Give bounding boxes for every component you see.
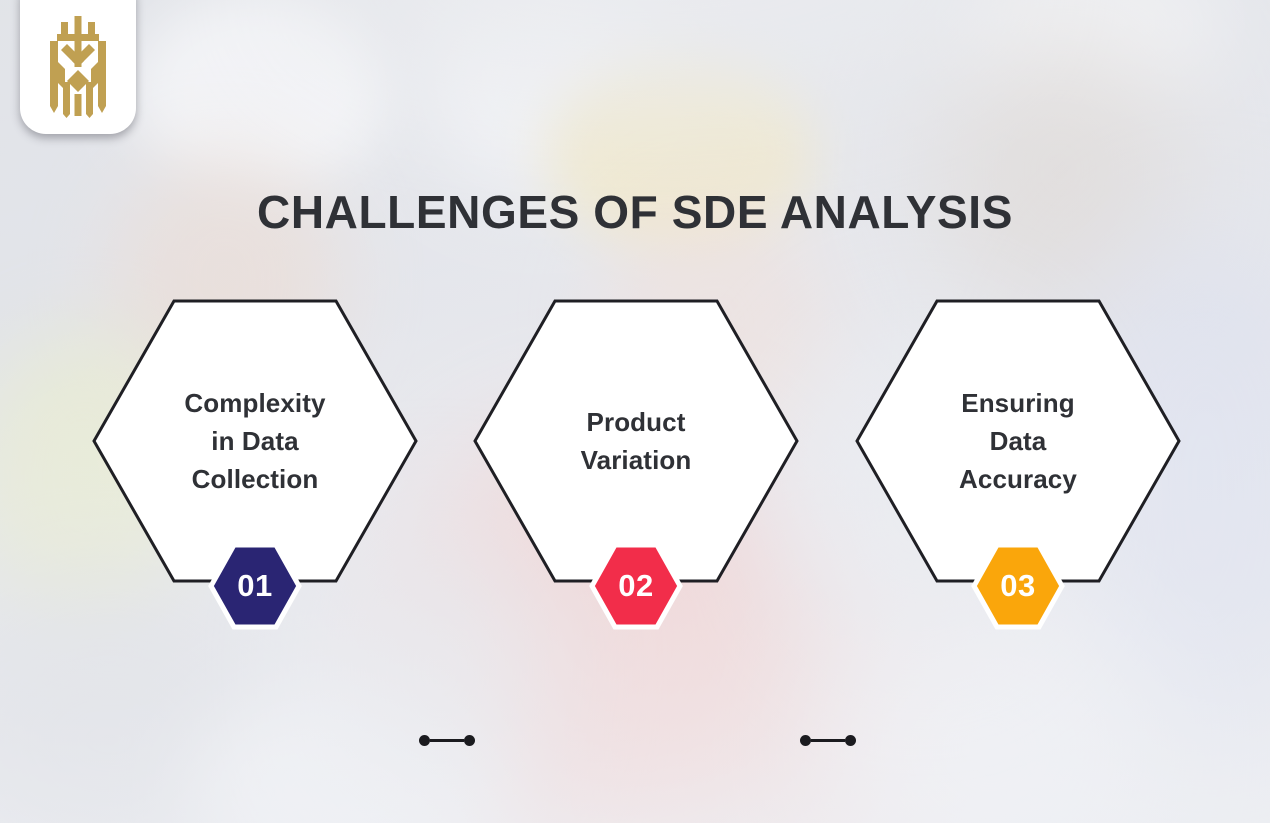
hexagon-step-1-number: 01 — [208, 542, 302, 630]
connector-line — [430, 739, 464, 742]
hexagon-step-1-badge: 01 — [208, 542, 302, 630]
hexagon-step-3-label: Ensuring Data Accuracy — [885, 384, 1151, 498]
hexagon-steps-row: Complexity in Data Collection 01 Product… — [0, 299, 1270, 639]
connector-step1-step2 — [419, 734, 475, 746]
hexagon-step-2-number: 02 — [589, 542, 683, 630]
slide-canvas: CHALLENGES OF SDE ANALYSIS Complexity in… — [0, 0, 1270, 823]
connector-dot-left-icon — [800, 735, 811, 746]
hexagon-step-2-label: Product Variation — [503, 403, 769, 479]
hexagon-step-1-label: Complexity in Data Collection — [122, 384, 388, 498]
logo-card — [20, 0, 136, 134]
connector-dot-right-icon — [845, 735, 856, 746]
hexagon-step-3-badge: 03 — [971, 542, 1065, 630]
hexagon-step-1[interactable]: Complexity in Data Collection 01 — [92, 299, 418, 583]
hexagon-step-3[interactable]: Ensuring Data Accuracy 03 — [855, 299, 1181, 583]
hexagon-step-2-badge: 02 — [589, 542, 683, 630]
hexagon-step-2[interactable]: Product Variation 02 — [473, 299, 799, 583]
hexagon-step-3-number: 03 — [971, 542, 1065, 630]
gold-crest-emblem-icon — [39, 14, 117, 118]
page-title: CHALLENGES OF SDE ANALYSIS — [0, 182, 1270, 242]
connector-step2-step3 — [800, 734, 856, 746]
connector-dot-right-icon — [464, 735, 475, 746]
connector-dot-left-icon — [419, 735, 430, 746]
connector-line — [811, 739, 845, 742]
